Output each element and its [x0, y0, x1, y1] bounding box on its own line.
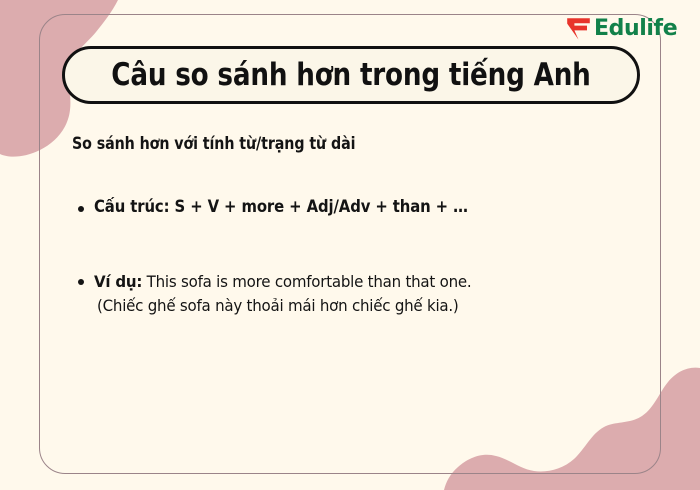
slide-canvas: Edulife Câu so sánh hơn trong tiếng Anh … — [0, 0, 700, 490]
example-sentence: This sofa is more comfortable than that … — [147, 272, 472, 291]
example-body: Ví dụ: This sofa is more comfortable tha… — [94, 270, 632, 320]
example-line: Ví dụ: This sofa is more comfortable tha… — [94, 270, 600, 295]
title-pill: Câu so sánh hơn trong tiếng Anh — [62, 46, 640, 104]
section-subtitle: So sánh hơn với tính từ/trạng từ dài — [72, 134, 610, 153]
bullet-dot-icon — [78, 206, 84, 212]
bullet-dot-icon — [78, 279, 84, 285]
page-title: Câu so sánh hơn trong tiếng Anh — [111, 60, 590, 91]
list-item-structure: Cấu trúc: S + V + more + Adj/Adv + than … — [72, 197, 632, 218]
example-label: Ví dụ: — [94, 272, 142, 291]
example-translation: (Chiếc ghế sofa này thoải mái hơn chiếc … — [97, 294, 600, 319]
edulife-flag-icon — [566, 17, 591, 41]
structure-line: Cấu trúc: S + V + more + Adj/Adv + than … — [94, 197, 468, 216]
edulife-logo: Edulife — [566, 17, 677, 41]
edulife-logo-text: Edulife — [594, 18, 677, 40]
structure-body: Cấu trúc: S + V + more + Adj/Adv + than … — [94, 197, 632, 218]
slide-content: So sánh hơn với tính từ/trạng từ dài Cấu… — [72, 134, 632, 319]
list-item-example: Ví dụ: This sofa is more comfortable tha… — [72, 270, 632, 320]
